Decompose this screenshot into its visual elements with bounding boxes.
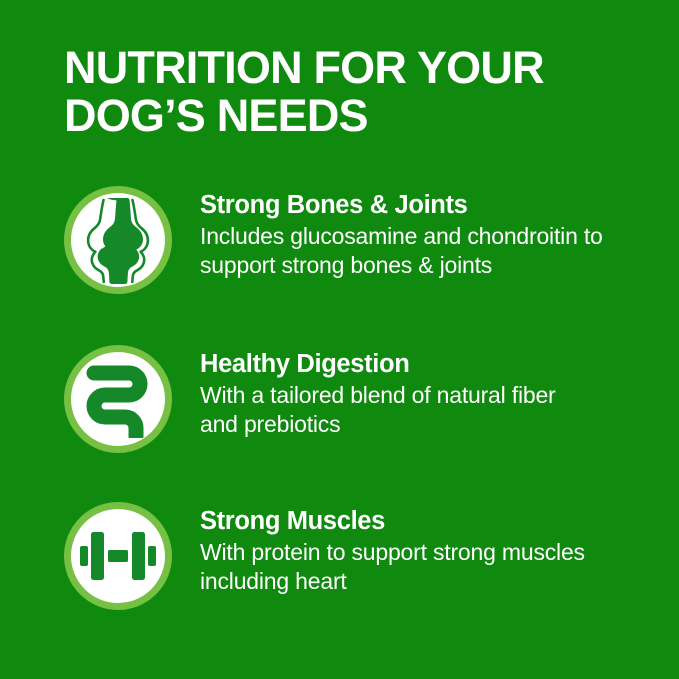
feature-description: With protein to support strong muscles i… (200, 538, 620, 596)
feature-row-bones-joints: Strong Bones & Joints Includes glucosami… (64, 186, 644, 294)
dumbbell-icon (64, 502, 172, 610)
feature-text-block: Strong Muscles With protein to support s… (172, 502, 644, 596)
feature-title: Strong Muscles (200, 506, 644, 536)
feature-description: With a tailored blend of natural fiber a… (200, 381, 580, 439)
bone-joint-icon (64, 186, 172, 294)
feature-description: Includes glucosamine and chondroitin to … (200, 222, 612, 280)
feature-row-muscles: Strong Muscles With protein to support s… (64, 502, 644, 610)
feature-title: Strong Bones & Joints (200, 190, 644, 220)
feature-title: Healthy Digestion (200, 349, 644, 379)
feature-text-block: Strong Bones & Joints Includes glucosami… (172, 186, 644, 280)
nutrition-benefits-panel: NUTRITION FOR YOUR DOG’S NEEDS (0, 0, 679, 679)
feature-row-digestion: Healthy Digestion With a tailored blend … (64, 345, 644, 453)
intestine-icon (64, 345, 172, 453)
page-title: NUTRITION FOR YOUR DOG’S NEEDS (64, 44, 624, 140)
feature-text-block: Healthy Digestion With a tailored blend … (172, 345, 644, 439)
